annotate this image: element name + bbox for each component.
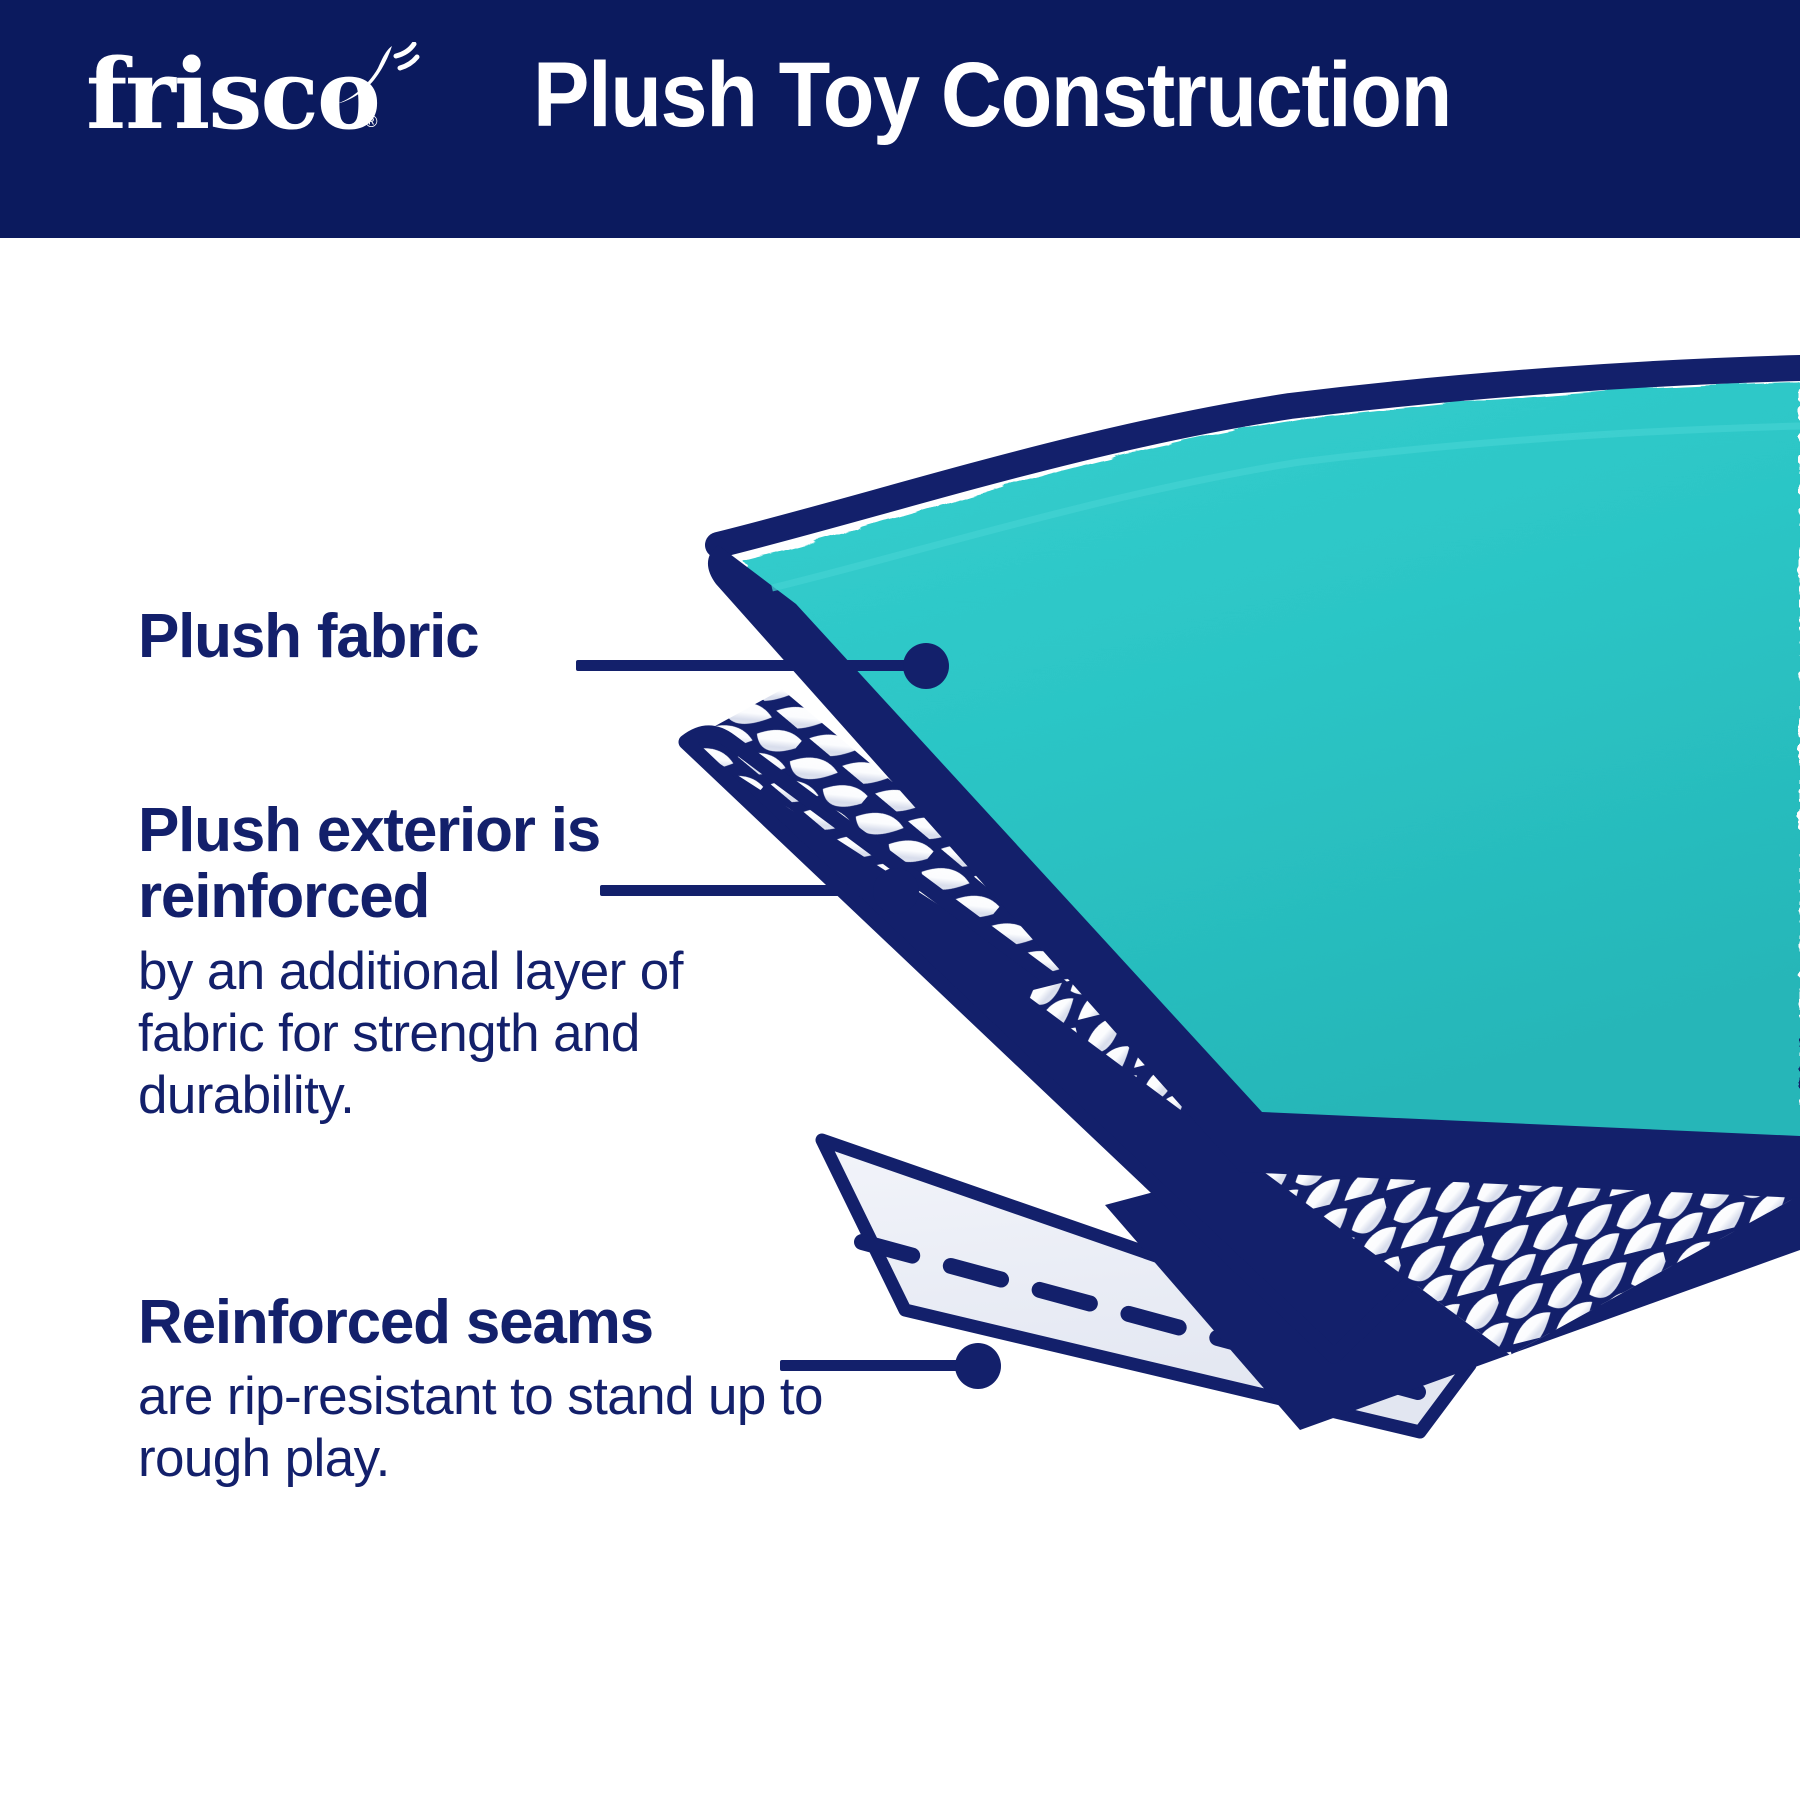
callout-plush-fabric: Plush fabric [138, 604, 478, 670]
callout-plush-exterior: Plush exterior is reinforced by an addit… [138, 798, 778, 1127]
seam-backing-layer [822, 1140, 1470, 1432]
callout-body: are rip-resistant to stand up to rough p… [138, 1366, 898, 1490]
callout-reinforced-seams: Reinforced seams are rip-resistant to st… [138, 1290, 898, 1490]
header-bar: frisco ® Plush Toy Construction [0, 0, 1800, 238]
callout-dot-reinforced-seams [955, 1343, 1001, 1389]
callout-body: by an additional layer of fabric for str… [138, 941, 778, 1127]
frisco-swoosh-icon [330, 42, 420, 112]
callout-heading: Plush exterior is reinforced [138, 798, 778, 931]
brand-trademark: ® [365, 112, 378, 132]
callout-heading: Reinforced seams [138, 1290, 898, 1356]
leader-line-plush-fabric [576, 660, 926, 671]
leader-line-plush-exterior [600, 885, 900, 896]
reinforcement-mesh-layer [174, 585, 1800, 1800]
callout-dot-plush-fabric [903, 643, 949, 689]
page-title: Plush Toy Construction [533, 47, 1451, 144]
infographic-canvas: frisco ® Plush Toy Construction [0, 0, 1800, 1800]
leader-line-reinforced-seams [780, 1360, 980, 1371]
callout-dot-plush-exterior [873, 868, 919, 914]
callout-heading: Plush fabric [138, 604, 478, 670]
plush-fabric-layer [708, 368, 1800, 1198]
